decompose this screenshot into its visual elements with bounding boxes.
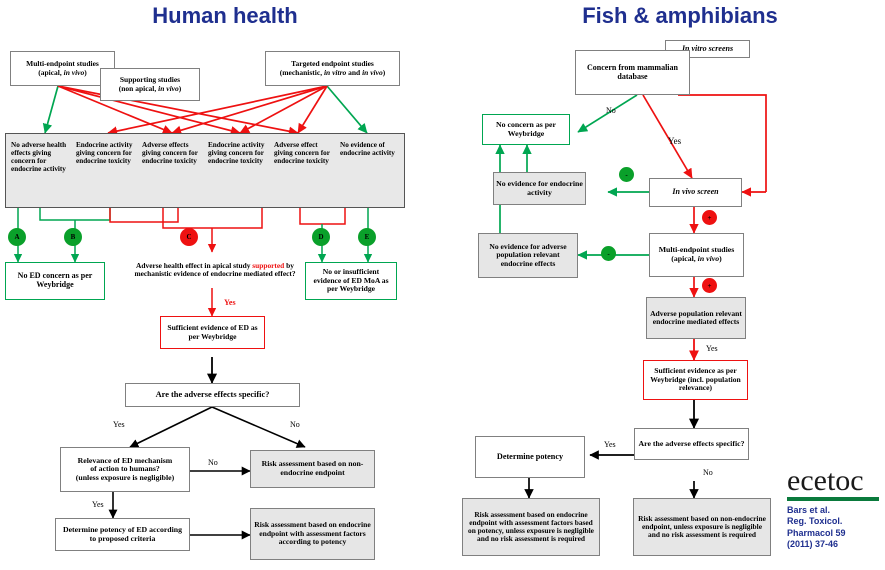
node-no-evidence-adverse-population[interactable]: No evidence for adverse population relev… [478, 233, 578, 278]
edge-label-concern-no: No [606, 106, 616, 115]
node-question-supported[interactable]: Adverse health effect in apical study su… [130, 252, 300, 288]
citation-line-4: (2011) 37-46 [787, 539, 879, 550]
citation-line-1: Bars et al. [787, 505, 879, 516]
marker-c: C [180, 228, 198, 246]
band-cell-1: No adverse health effects giving concern… [11, 141, 67, 173]
node-no-concern-weybridge[interactable]: No concern as per Weybridge [482, 114, 570, 145]
edge-label-yes-sufficient: Yes [224, 298, 236, 307]
node-sufficient-evidence-ed[interactable]: Sufficient evidence of ED as per Weybrid… [160, 316, 265, 349]
relevance-line-3: (unless exposure is negligible) [76, 474, 174, 483]
band-cell-5: Adverse effect giving concern for endocr… [274, 141, 332, 165]
edge-label-specific-yes: Yes [113, 420, 125, 429]
node-no-evidence-endocrine-activity[interactable]: No evidence for endocrine activity [493, 172, 586, 205]
node-concern-mammalian-database[interactable]: Concern from mammalian database [575, 50, 690, 95]
edge-label-specific-no: No [290, 420, 300, 429]
node-fish-multi-endpoint-studies[interactable]: Multi-endpoint studies (apical, in vivo) [649, 233, 744, 277]
node-line-2: (apical, in vivo) [38, 69, 87, 77]
node-targeted-endpoint-studies[interactable]: Targeted endpoint studies (mechanistic, … [265, 51, 400, 86]
citation: Bars et al. Reg. Toxicol. Pharmacol 59 (… [787, 505, 879, 550]
logo-green-bar [787, 497, 879, 501]
node-determine-potency-of-ed[interactable]: Determine potency of ED according to pro… [55, 518, 190, 551]
node-in-vivo-screen[interactable]: In vivo screen [649, 178, 742, 207]
node-no-or-insufficient-evidence[interactable]: No or insufficient evidence of ED MoA as… [305, 262, 397, 300]
citation-line-3: Pharmacol 59 [787, 528, 879, 539]
node-line-2: (mechanistic, in vitro and in vivo) [280, 69, 385, 77]
node-fish-determine-potency[interactable]: Determine potency [475, 436, 585, 478]
sign-plus-multi-endpoint: + [702, 278, 717, 293]
node-adverse-population-effects[interactable]: Adverse population relevant endocrine me… [646, 297, 746, 339]
marker-d: D [312, 228, 330, 246]
node-fish-risk-assessment-non-endocrine[interactable]: Risk assessment based on non-endocrine e… [633, 498, 771, 556]
node-line-2: (apical, in vivo) [671, 255, 721, 264]
edge-label-relevance-no: No [208, 458, 218, 467]
band-cell-3: Adverse effects giving concern for endoc… [142, 141, 200, 165]
edge-label-relevance-yes: Yes [92, 500, 104, 509]
node-risk-assessment-non-endocrine[interactable]: Risk assessment based on non-endocrine e… [250, 450, 375, 488]
diagram-canvas: Human health Fish & amphibians [0, 0, 885, 570]
sign-minus-endocrine-activity: - [619, 167, 634, 182]
band-cell-6: No evidence of endocrine activity [340, 141, 396, 157]
edge-label-fish-specific-yes: Yes [604, 440, 616, 449]
ecetoc-wordmark: ecetoc [787, 466, 879, 496]
edge-label-adverse-yes: Yes [706, 344, 718, 353]
edge-label-fish-specific-no: No [703, 468, 713, 477]
sign-plus-in-vivo-screen: + [702, 210, 717, 225]
node-relevance-of-ed-mechanism[interactable]: Relevance of ED mechanism of action to h… [60, 447, 190, 492]
band-cell-4: Endocrine activity giving concern for en… [208, 141, 266, 165]
node-line-2: (non apical, in vivo) [119, 85, 182, 93]
edge-label-concern-yes: Yes [668, 136, 681, 146]
sign-minus-adverse-population: - [601, 246, 616, 261]
ecetoc-logo-block: ecetoc Bars et al. Reg. Toxicol. Pharmac… [787, 466, 879, 550]
in-vivo-screen-label: In vivo screen [672, 188, 718, 197]
marker-b: B [64, 228, 82, 246]
node-fish-sufficient-evidence[interactable]: Sufficient evidence as per Weybridge (in… [643, 360, 748, 400]
node-supporting-studies[interactable]: Supporting studies (non apical, in vivo) [100, 68, 200, 101]
marker-e: E [358, 228, 376, 246]
marker-a: A [8, 228, 26, 246]
band-cell-2: Endocrine activity giving concern for en… [76, 141, 134, 165]
node-risk-assessment-endocrine[interactable]: Risk assessment based on endocrine endpo… [250, 508, 375, 560]
node-no-ed-concern[interactable]: No ED concern as per Weybridge [5, 262, 105, 300]
node-are-adverse-effects-specific[interactable]: Are the adverse effects specific? [125, 383, 300, 407]
node-fish-are-adverse-effects-specific[interactable]: Are the adverse effects specific? [634, 428, 749, 460]
node-fish-risk-assessment-endocrine[interactable]: Risk assessment based on endocrine endpo… [462, 498, 600, 556]
citation-line-2: Reg. Toxicol. [787, 516, 879, 527]
